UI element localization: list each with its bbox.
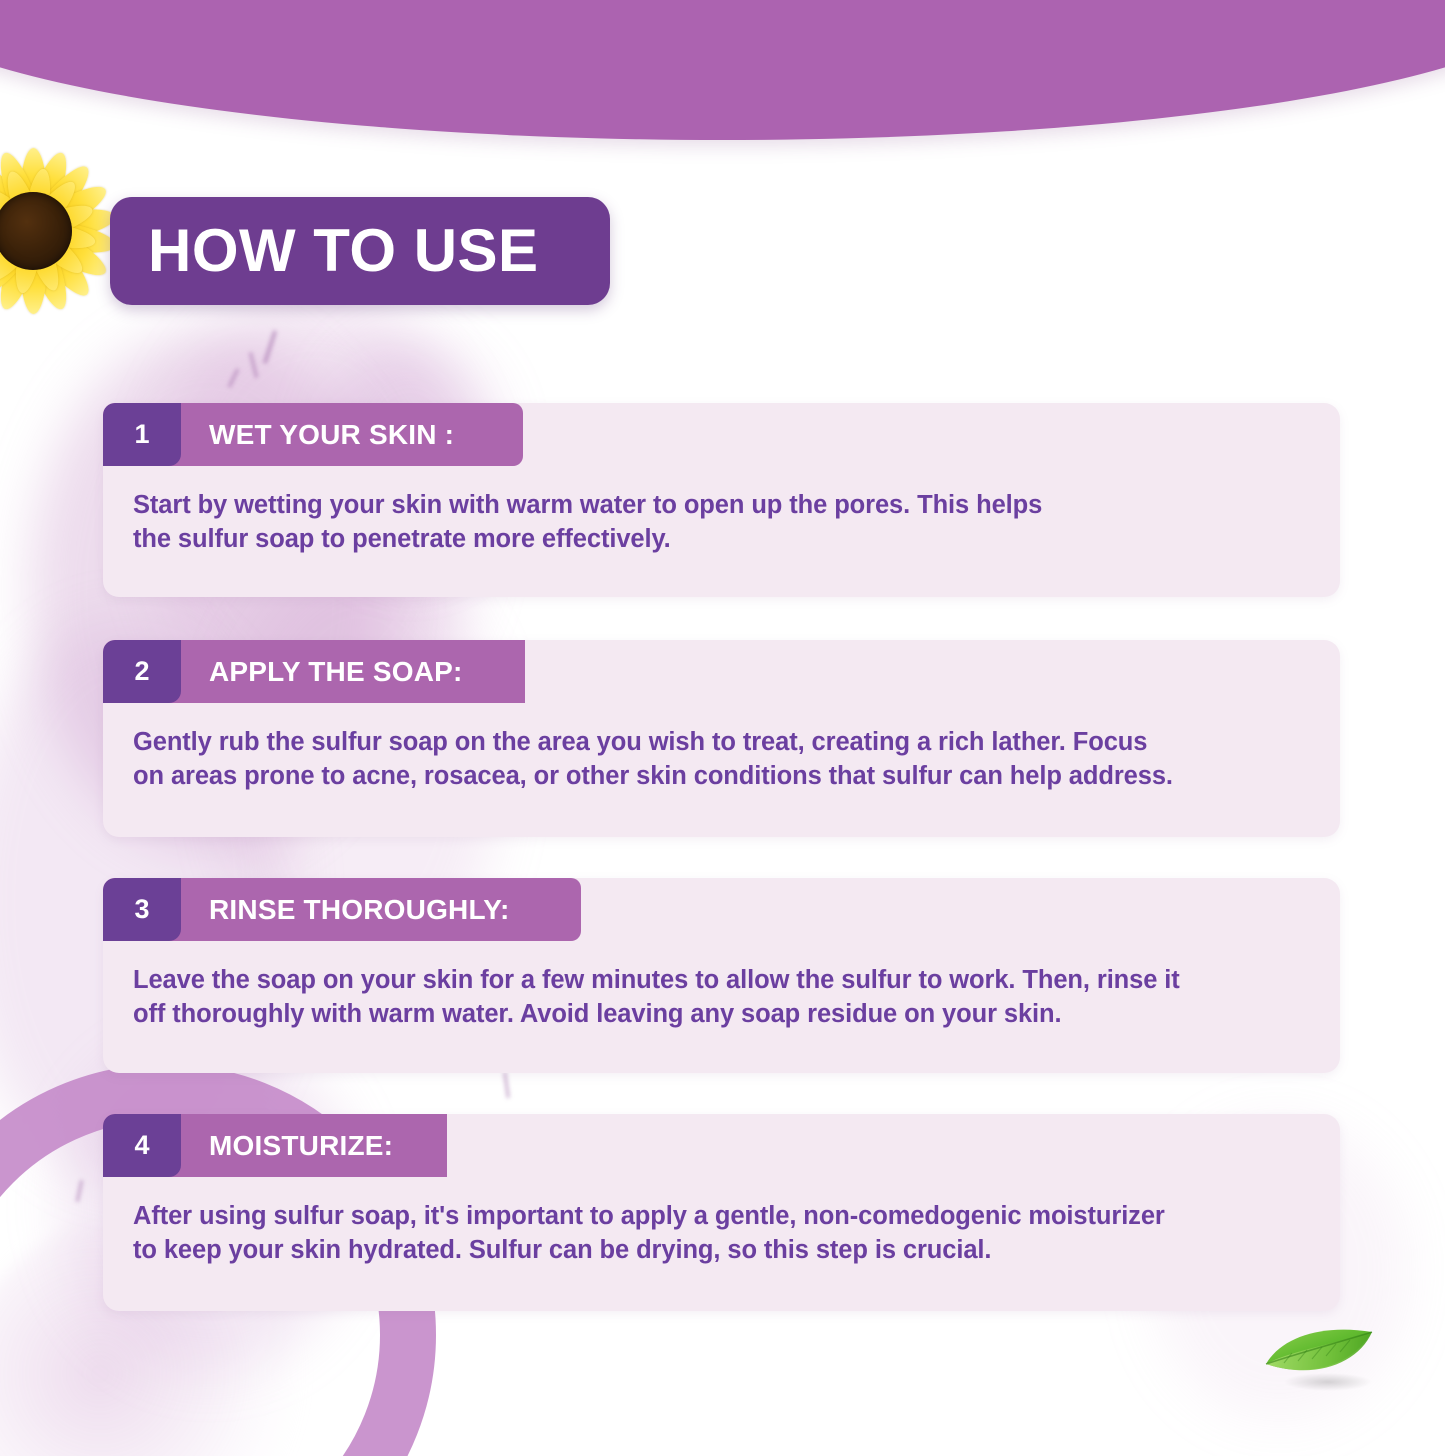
step-body-line: off thoroughly with warm water. Avoid le… — [133, 998, 1310, 1032]
watercolor-streak — [228, 368, 239, 387]
step-number-badge: 4 — [103, 1114, 181, 1177]
top-banner-arc — [0, 0, 1445, 140]
watercolor-streak — [76, 1180, 84, 1202]
step-title: APPLY THE SOAP: — [181, 640, 497, 703]
infographic-canvas: HOW TO USE 1 WET YOUR SKIN : Start by we… — [0, 0, 1445, 1456]
sunflower-icon — [0, 136, 128, 326]
step-number-badge: 3 — [103, 878, 181, 941]
step-card: 3 RINSE THOROUGHLY: Leave the soap on yo… — [103, 878, 1340, 1073]
step-title: RINSE THOROUGHLY: — [181, 878, 544, 941]
watercolor-streak — [249, 352, 258, 378]
step-body-line: Start by wetting your skin with warm wat… — [133, 489, 1310, 523]
step-body-line: on areas prone to acne, rosacea, or othe… — [133, 760, 1310, 794]
page-title: HOW TO USE — [148, 221, 539, 281]
step-card: 2 APPLY THE SOAP: Gently rub the sulfur … — [103, 640, 1340, 837]
step-body-line: the sulfur soap to penetrate more effect… — [133, 523, 1310, 557]
step-header: 3 RINSE THOROUGHLY: — [103, 878, 581, 941]
watercolor-streak — [263, 330, 277, 364]
step-card: 1 WET YOUR SKIN : Start by wetting your … — [103, 403, 1340, 597]
step-card: 4 MOISTURIZE: After using sulfur soap, i… — [103, 1114, 1340, 1311]
green-leaf-icon — [1262, 1322, 1380, 1394]
step-header: 4 MOISTURIZE: — [103, 1114, 447, 1177]
step-body-line: Gently rub the sulfur soap on the area y… — [133, 726, 1310, 760]
step-number-badge: 1 — [103, 403, 181, 466]
page-title-badge: HOW TO USE — [110, 197, 610, 305]
step-header: 2 APPLY THE SOAP: — [103, 640, 525, 703]
step-body-line: to keep your skin hydrated. Sulfur can b… — [133, 1234, 1310, 1268]
step-number-badge: 2 — [103, 640, 181, 703]
step-header: 1 WET YOUR SKIN : — [103, 403, 523, 466]
step-title: MOISTURIZE: — [181, 1114, 427, 1177]
step-body-line: After using sulfur soap, it's important … — [133, 1200, 1310, 1234]
watercolor-streak — [503, 1072, 510, 1098]
step-title: WET YOUR SKIN : — [181, 403, 488, 466]
step-body-line: Leave the soap on your skin for a few mi… — [133, 964, 1310, 998]
